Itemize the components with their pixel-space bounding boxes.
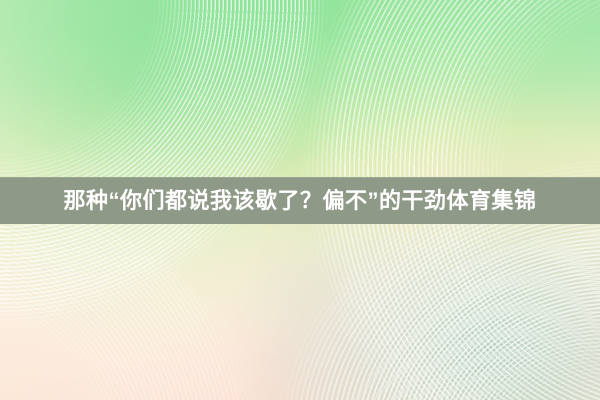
banner-image: 那种“你们都说我该歇了？偏不”的干劲体育集锦: [0, 0, 600, 400]
banner-title: 那种“你们都说我该歇了？偏不”的干劲体育集锦: [10, 190, 590, 212]
title-band: 那种“你们都说我该歇了？偏不”的干劲体育集锦: [0, 177, 600, 224]
